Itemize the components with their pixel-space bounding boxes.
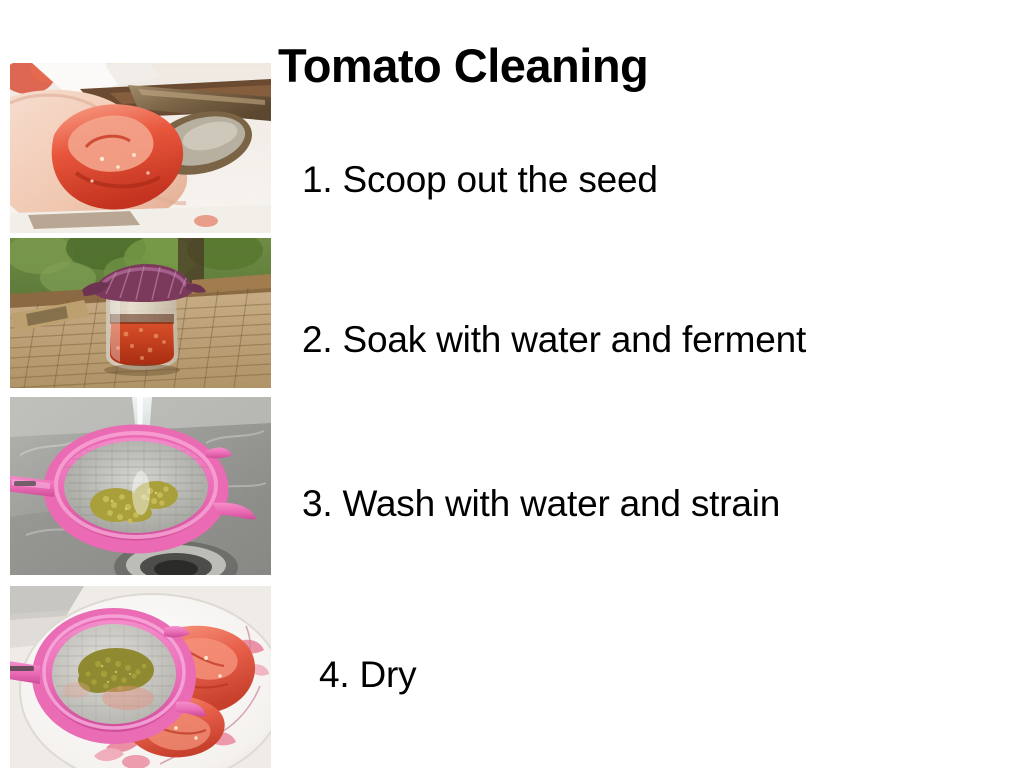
step-item-2: 2. Soak with water and ferment bbox=[302, 318, 806, 362]
step-item-1: 1. Scoop out the seed bbox=[302, 158, 658, 202]
slide-canvas: Tomato Cleaning bbox=[0, 0, 1024, 768]
step-item-3: 3. Wash with water and strain bbox=[302, 482, 780, 526]
step-item-4: 4. Dry bbox=[319, 653, 416, 697]
step-list: 1. Scoop out the seed 2. Soak with water… bbox=[0, 0, 1024, 768]
